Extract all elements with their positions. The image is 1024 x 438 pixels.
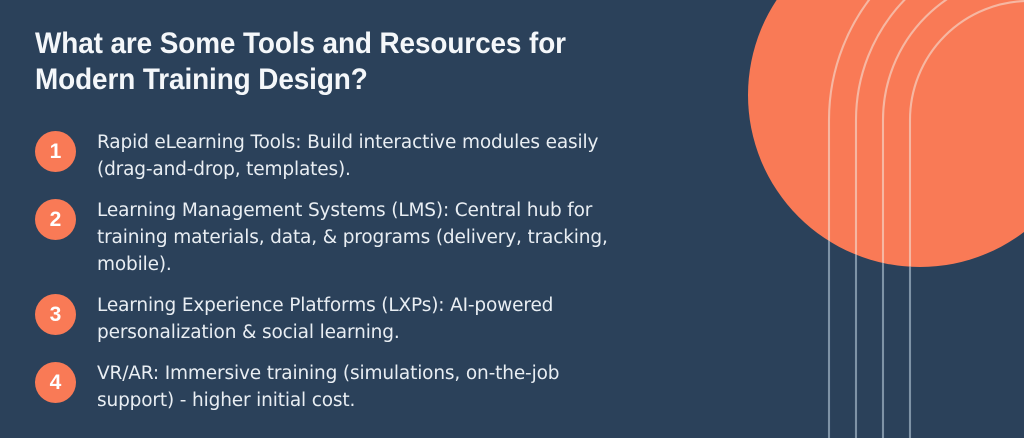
list-item-number-badge: 4 [35,362,76,403]
orange-circle [748,0,1024,267]
list-item: 2 Learning Management Systems (LMS): Cen… [35,197,755,278]
arc-line-1 [829,0,1024,438]
arc-line-2 [856,0,1024,438]
list-item-text-line-1: Learning Management Systems (LMS): Centr… [97,197,755,224]
arc-line-3 [883,0,1024,438]
page-title-line-2: Modern Training Design? [35,62,649,98]
page-title-line-1: What are Some Tools and Resources for [35,26,649,62]
list-item-text-line-2: (drag-and-drop, templates). [97,156,755,183]
numbered-list: 1 Rapid eLearning Tools: Build interacti… [35,129,755,414]
arc-line-1-navy [829,0,1024,438]
list-item: 3 Learning Experience Platforms (LXPs): … [35,292,755,346]
slide-canvas: What are Some Tools and Resources for Mo… [0,0,1024,438]
list-item-number-badge: 2 [35,199,76,240]
list-item-text-line-1: Learning Experience Platforms (LXPs): AI… [97,292,755,319]
list-item: 4 VR/AR: Immersive training (simulations… [35,360,755,414]
list-item-text: Learning Experience Platforms (LXPs): AI… [97,292,755,346]
arc-line-4 [910,1,1024,438]
list-item-text: Rapid eLearning Tools: Build interactive… [97,129,755,183]
list-item-text-line-2: training materials, data, & programs (de… [97,224,755,251]
list-item-text-line-1: Rapid eLearning Tools: Build interactive… [97,129,755,156]
list-item-text-line-1: VR/AR: Immersive training (simulations, … [97,360,755,387]
arc-line-2-navy [856,0,1024,438]
list-item-text-line-3: mobile). [97,251,755,278]
page-title: What are Some Tools and Resources for Mo… [35,26,649,98]
arc-line-4-navy [910,1,1024,438]
list-item: 1 Rapid eLearning Tools: Build interacti… [35,129,755,183]
decorative-graphic [724,0,1024,438]
list-item-text-line-2: support) - higher initial cost. [97,387,755,414]
arc-line-3-navy [883,0,1024,438]
list-item-text: Learning Management Systems (LMS): Centr… [97,197,755,278]
list-item-text: VR/AR: Immersive training (simulations, … [97,360,755,414]
list-item-number-badge: 1 [35,131,76,172]
list-item-text-line-2: personalization & social learning. [97,319,755,346]
list-item-number-badge: 3 [35,294,76,335]
